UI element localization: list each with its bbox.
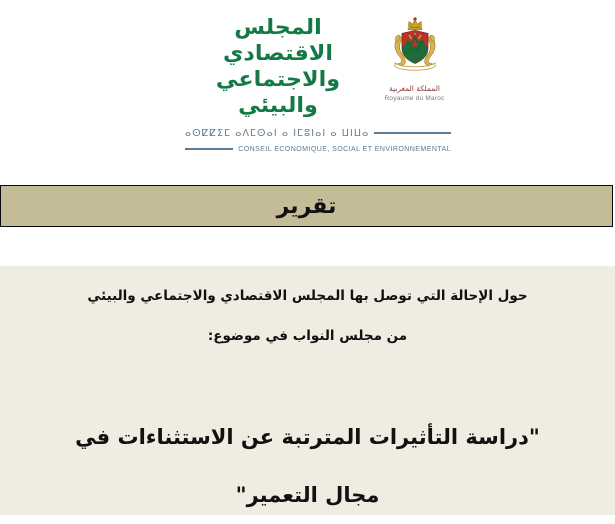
report-main-title-line-2: مجال التعمير" — [0, 466, 615, 524]
document-header: المجلس الاقتصادي والاجتماعي والبيئي — [0, 0, 615, 170]
morocco-coat-of-arms-icon — [388, 16, 442, 82]
document-page: المجلس الاقتصادي والاجتماعي والبيئي — [0, 0, 615, 515]
coat-of-arms-block: المملكة المغربية Royaume du Maroc — [376, 16, 453, 128]
logo-rule-tifinagh — [374, 132, 451, 134]
cese-logo: المجلس الاقتصادي والاجتماعي والبيئي — [183, 12, 453, 158]
logo-arabic-wordmark: المجلس الاقتصادي والاجتماعي والبيئي — [177, 14, 378, 124]
referral-subtitle-line-1: حول الإحالة التي توصل بها المجلس الاقتصا… — [0, 276, 615, 316]
referral-subtitle: حول الإحالة التي توصل بها المجلس الاقتصا… — [0, 276, 615, 356]
referral-subtitle-line-2: من مجلس النواب في موضوع: — [0, 316, 615, 356]
logo-french-row: Conseil Economique, Social et Environnem… — [185, 142, 451, 156]
coat-of-arms-arabic-caption: المملكة المغربية — [376, 84, 453, 94]
report-type-banner: تقرير — [0, 185, 613, 227]
logo-tifinagh-wordmark: ⴰⵙⵇⵇⵉⵎ ⴰⴷⵎⵙⴰⵏ ⴰ ⵏⵎⵓⵏⴰⵏ ⴰ ⵡⵏⵡⴰ — [185, 128, 369, 139]
report-main-title: "دراسة التأثيرات المترتبة عن الاستثناءات… — [0, 408, 615, 524]
report-main-title-line-1: "دراسة التأثيرات المترتبة عن الاستثناءات… — [0, 408, 615, 466]
coat-of-arms-french-caption: Royaume du Maroc — [376, 94, 453, 103]
report-type-label: تقرير — [277, 194, 337, 219]
logo-rule-french-left — [185, 148, 233, 150]
logo-tifinagh-row: ⴰⵙⵇⵇⵉⵎ ⴰⴷⵎⵙⴰⵏ ⴰ ⵏⵎⵓⵏⴰⵏ ⴰ ⵡⵏⵡⴰ — [185, 125, 451, 141]
logo-french-wordmark: Conseil Economique, Social et Environnem… — [238, 146, 451, 153]
